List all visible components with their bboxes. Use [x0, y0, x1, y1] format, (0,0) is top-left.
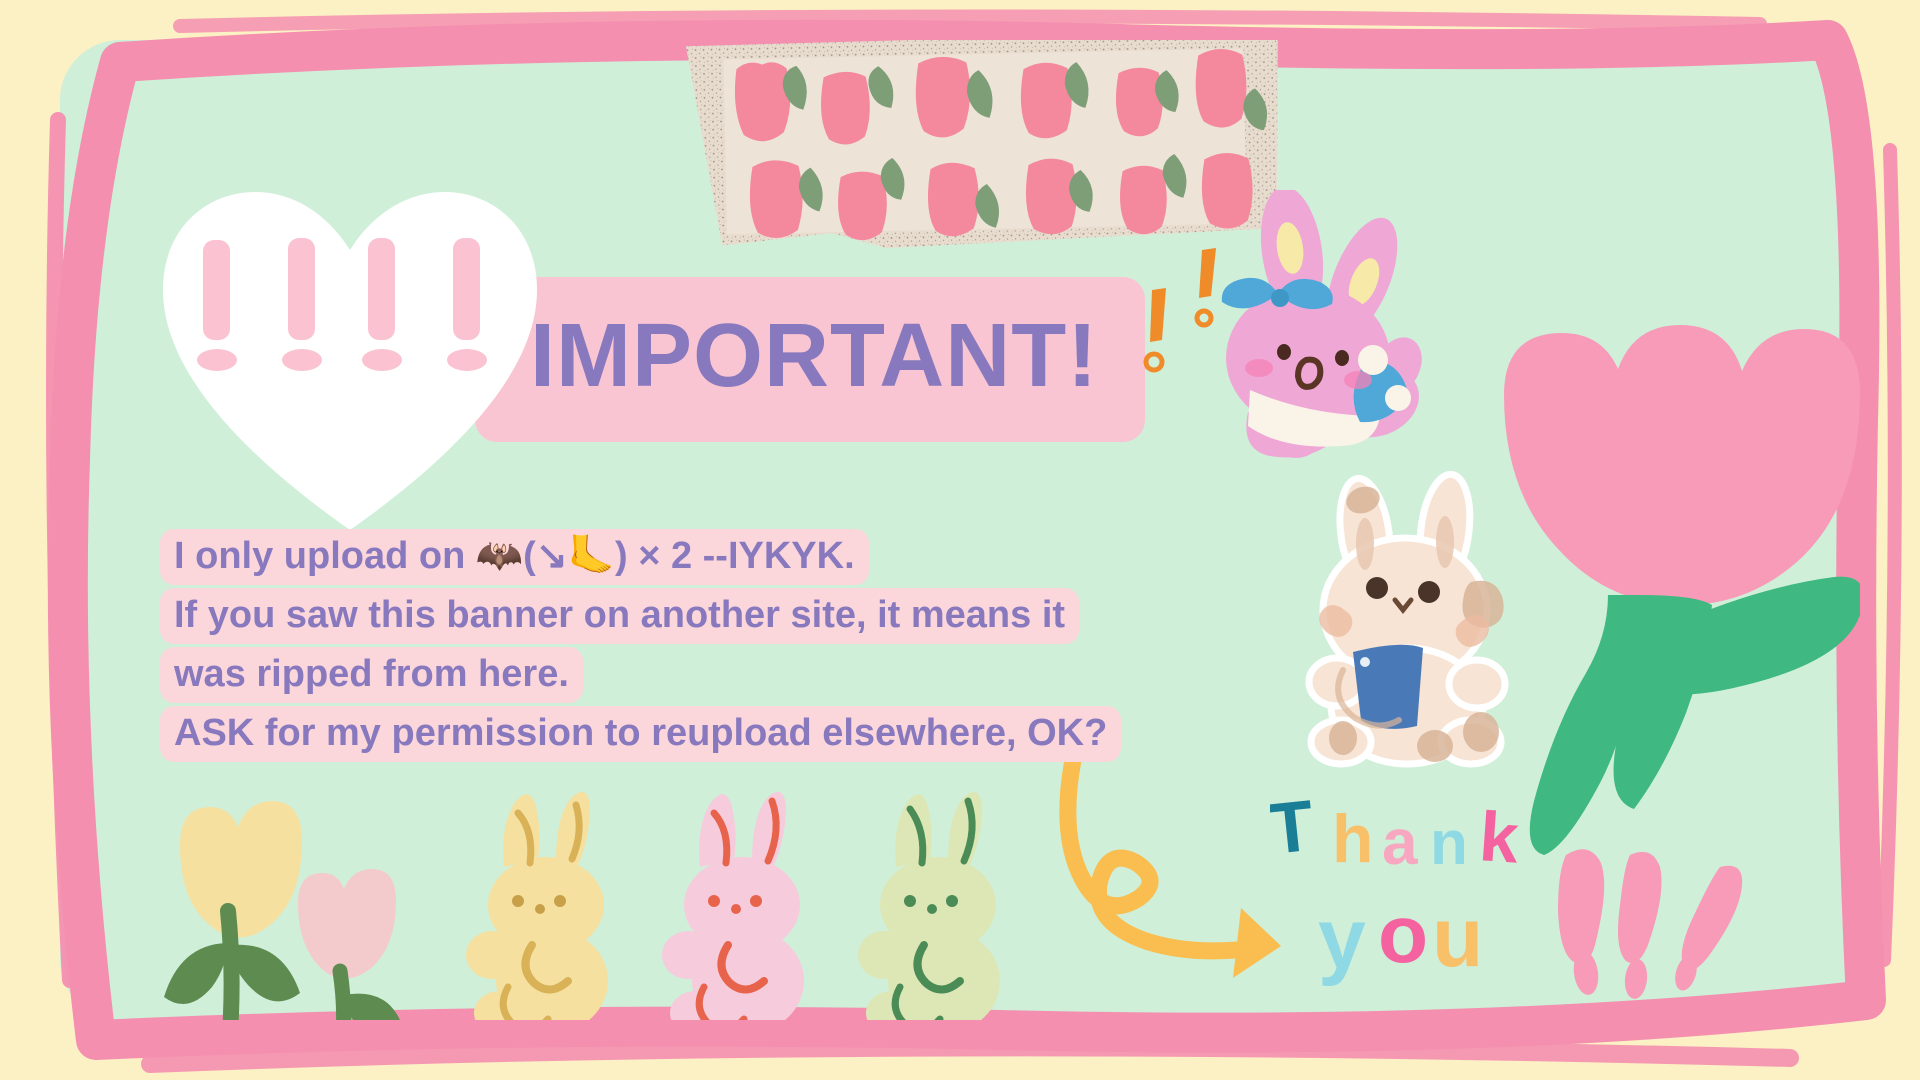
excited-exclamation-icon [1146, 248, 1216, 370]
thank-letter-a: a [1382, 806, 1418, 878]
notice-line-2: If you saw this banner on another site, … [160, 586, 1121, 645]
white-heart-with-exclamations [155, 180, 545, 535]
small-tulips-icon [150, 785, 420, 1020]
notice-text-block: I only upload on 🦇(↘🦶) × 2 --IYKYK. If y… [160, 527, 1121, 763]
thank-letter-h: h [1332, 801, 1374, 877]
pink-tulip-icon [298, 869, 402, 1020]
thank-letter-T: T [1270, 790, 1317, 870]
green-bunny-cookie [858, 792, 1000, 1020]
flying-bunny-icon [1130, 190, 1430, 480]
sitting-bunny-with-phone-icon [1285, 470, 1545, 770]
yellow-tulip-icon [164, 801, 302, 1020]
thankyou-letter-u: u [1432, 890, 1483, 984]
yellow-bunny-cookie [466, 792, 608, 1020]
thankyou-letter-y: y [1318, 891, 1366, 987]
cookie-bunny-row [460, 785, 1050, 1020]
banner-root: IMPORTANT! I only upload on 🦇(↘🦶) × 2 --… [0, 0, 1920, 1080]
notice-line-3: was ripped from here. [160, 645, 1121, 704]
phone-icon [1353, 645, 1423, 729]
thank-letter-n: n [1430, 809, 1468, 878]
page-title: IMPORTANT! [530, 305, 1098, 408]
notice-line-1: I only upload on 🦇(↘🦶) × 2 --IYKYK. [160, 527, 1121, 586]
notice-line-4: ASK for my permission to reupload elsewh… [160, 704, 1121, 763]
thank-you-lettering: T h a n k y o u [1270, 790, 1570, 1010]
thank-letter-k: k [1477, 797, 1521, 878]
pink-bunny-cookie [662, 792, 804, 1020]
thankyou-letter-o: o [1378, 889, 1428, 980]
